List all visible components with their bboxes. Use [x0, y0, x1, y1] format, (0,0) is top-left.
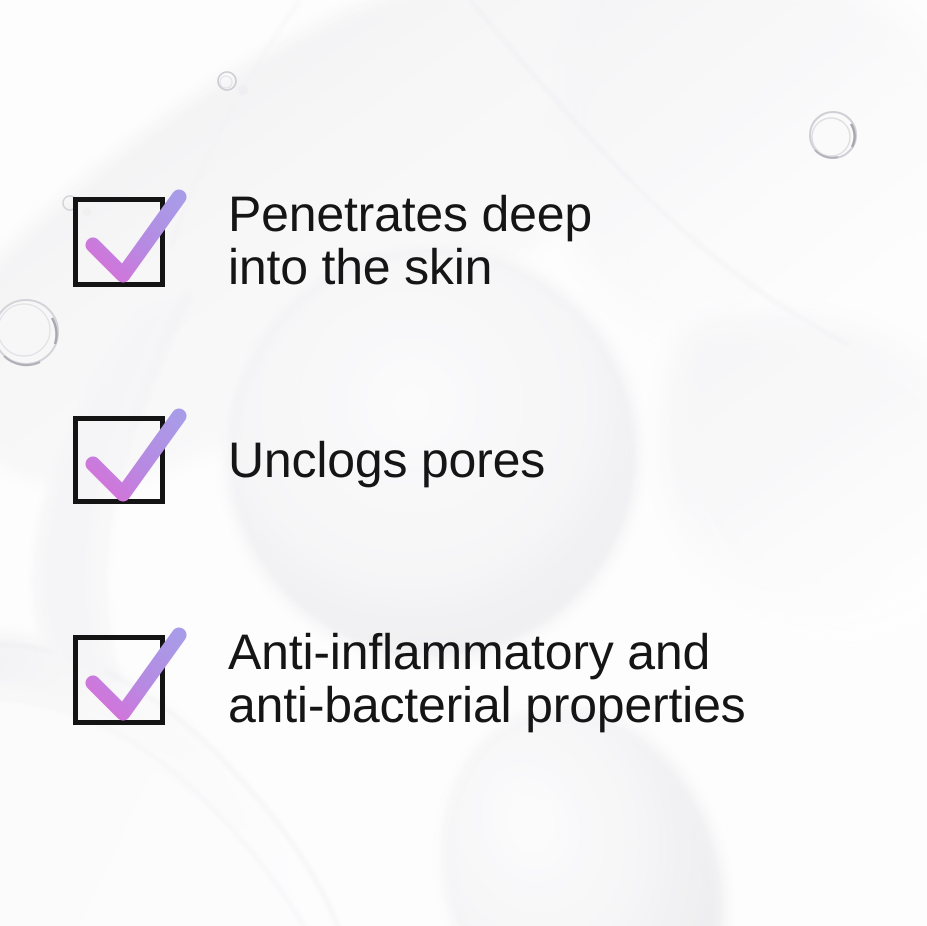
feature-label: Unclogs pores: [228, 434, 545, 487]
feature-item-anti-inflammatory[interactable]: Anti-inflammatory and anti-bacterial pro…: [73, 628, 746, 732]
feature-list: Penetrates deep into the skin Unc: [0, 0, 927, 926]
feature-item-penetrates-deep[interactable]: Penetrates deep into the skin: [73, 190, 592, 294]
feature-label: Anti-inflammatory and anti-bacterial pro…: [228, 626, 746, 732]
graphic-canvas: Penetrates deep into the skin Unc: [0, 0, 927, 926]
checked-checkbox-icon[interactable]: [73, 416, 165, 504]
checkmark-icon: [71, 183, 201, 303]
checked-checkbox-icon[interactable]: [73, 197, 165, 287]
checked-checkbox-icon[interactable]: [73, 635, 165, 725]
checkmark-icon: [71, 402, 201, 522]
feature-label: Penetrates deep into the skin: [228, 188, 592, 294]
checkmark-icon: [71, 621, 201, 741]
feature-item-unclogs-pores[interactable]: Unclogs pores: [73, 416, 545, 504]
